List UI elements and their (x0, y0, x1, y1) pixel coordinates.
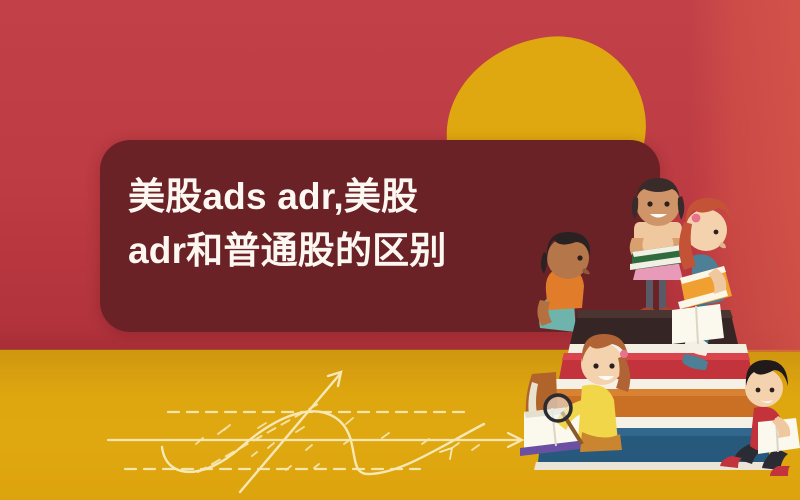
doodle-rising-arrow-line (240, 374, 340, 492)
chart-doodle-decoration (100, 352, 550, 500)
page-title-line-1: 美股ads adr,美股 (128, 170, 548, 224)
page-title-line-2: adr和普通股的区别 (128, 224, 548, 278)
children-reading-illustration (520, 160, 800, 500)
page-title: 美股ads adr,美股 adr和普通股的区别 (128, 170, 548, 277)
banner-image: 美股ads adr,美股 adr和普通股的区别 (0, 0, 800, 500)
doodle-small-arrowhead (440, 448, 452, 459)
doodle-tick-marks (196, 418, 479, 470)
doodle-dashed-trend-line (198, 404, 318, 472)
doodle-scurve (162, 411, 484, 474)
